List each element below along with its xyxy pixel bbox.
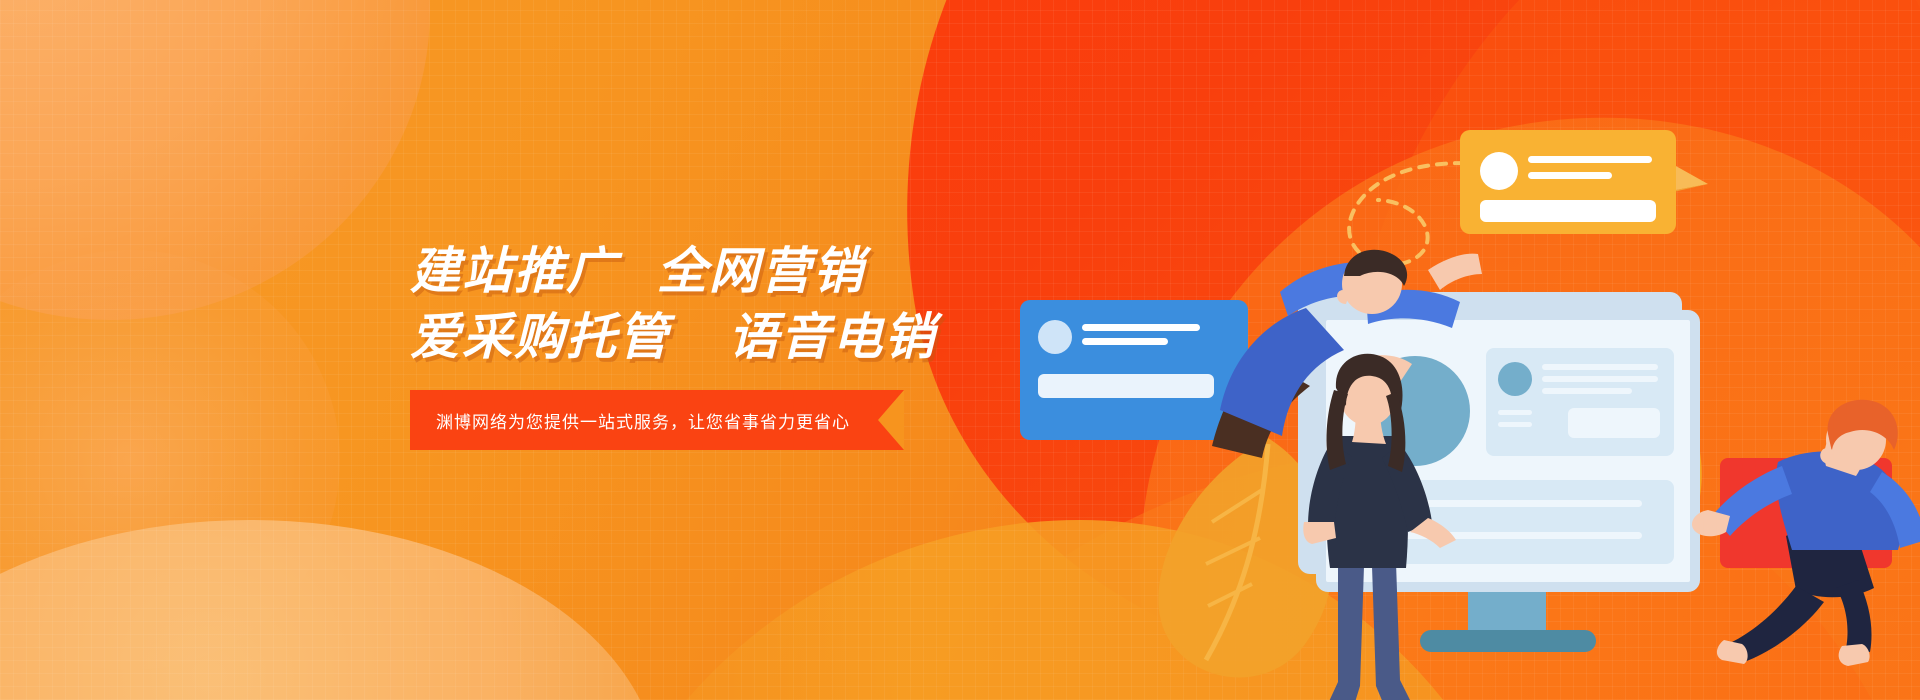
headline-line-1: 建站推广 全网营销	[410, 238, 1170, 304]
text-line	[1082, 338, 1168, 345]
content-bar	[1568, 408, 1660, 438]
text-line	[1542, 388, 1632, 394]
text-line	[1542, 364, 1658, 370]
person-man-sitting	[1660, 390, 1920, 700]
promo-banner: 建站推广 全网营销 爱采购托管 语音电销 渊博网络为您提供一站式服务，让您省事省…	[0, 0, 1920, 700]
person-woman-standing	[1260, 352, 1520, 700]
text-line	[1542, 376, 1658, 382]
ribbon-notch-shape	[878, 390, 904, 450]
hero-illustration	[1120, 60, 1920, 700]
text-line	[1528, 172, 1612, 179]
tagline-ribbon: 渊博网络为您提供一站式服务，让您省事省力更省心	[410, 390, 904, 450]
bottom-left-glow-blob	[0, 520, 660, 700]
tagline-text: 渊博网络为您提供一站式服务，让您省事省力更省心	[436, 408, 850, 433]
text-line	[1528, 156, 1652, 163]
avatar	[1480, 152, 1518, 190]
avatar	[1038, 320, 1072, 354]
